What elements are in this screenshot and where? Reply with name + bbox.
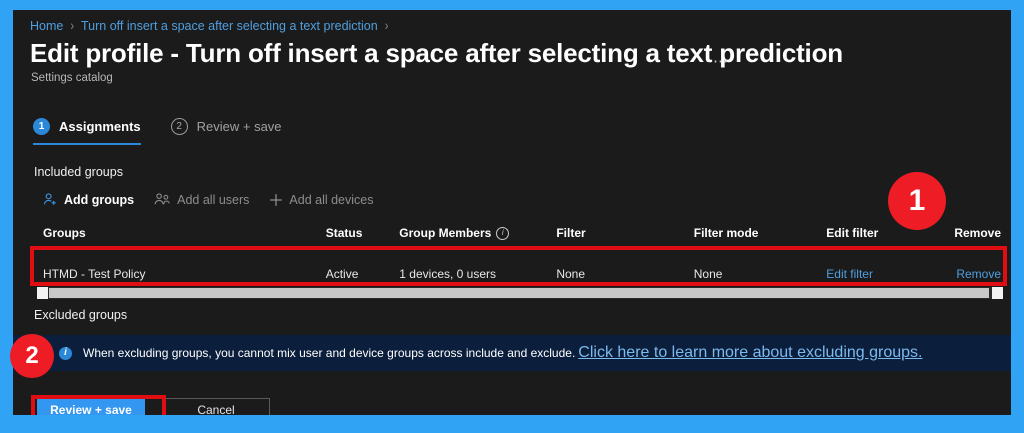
wizard-tabs: 1 Assignments 2 Review + save bbox=[33, 118, 282, 145]
column-header-filter[interactable]: Filter bbox=[556, 226, 693, 240]
table-horizontal-scrollbar[interactable] bbox=[37, 287, 1003, 299]
add-all-users-button[interactable]: Add all users bbox=[154, 192, 249, 207]
scroll-left-arrow-icon[interactable] bbox=[37, 287, 48, 299]
column-header-remove[interactable]: Remove bbox=[942, 226, 1001, 240]
table-header-row: Groups Status Group Members i Filter Fil… bbox=[43, 222, 1001, 244]
scrollbar-thumb[interactable] bbox=[49, 288, 989, 298]
tab-review-save-label: Review + save bbox=[197, 119, 282, 134]
info-message-bar: i When excluding groups, you cannot mix … bbox=[13, 335, 1011, 371]
add-all-devices-label: Add all devices bbox=[289, 193, 373, 207]
column-header-groups[interactable]: Groups bbox=[43, 226, 326, 240]
breadcrumb-item-home[interactable]: Home bbox=[30, 18, 63, 34]
add-all-devices-button[interactable]: Add all devices bbox=[269, 193, 373, 207]
page-subtitle: Settings catalog bbox=[31, 72, 113, 84]
remove-link[interactable]: Remove bbox=[942, 267, 1001, 281]
edit-filter-link[interactable]: Edit filter bbox=[826, 267, 942, 281]
column-header-group-members[interactable]: Group Members i bbox=[399, 226, 556, 240]
tab-assignments[interactable]: 1 Assignments bbox=[33, 118, 141, 145]
breadcrumb-item-policy[interactable]: Turn off insert a space after selecting … bbox=[81, 18, 378, 34]
info-message-text: When excluding groups, you cannot mix us… bbox=[83, 346, 575, 360]
cell-group-members: 1 devices, 0 users bbox=[399, 267, 556, 281]
column-header-filter-mode[interactable]: Filter mode bbox=[694, 226, 827, 240]
add-groups-button[interactable]: Add groups bbox=[43, 192, 134, 207]
tab-review-save-number: 2 bbox=[171, 118, 188, 135]
column-header-status[interactable]: Status bbox=[326, 226, 400, 240]
scroll-right-arrow-icon[interactable] bbox=[992, 287, 1003, 299]
azure-portal-blade: Home › Turn off insert a space after sel… bbox=[13, 10, 1011, 415]
tab-assignments-number: 1 bbox=[33, 118, 50, 135]
annotation-badge-1: 1 bbox=[888, 172, 946, 230]
review-save-button[interactable]: Review + save bbox=[37, 398, 145, 415]
tab-assignments-label: Assignments bbox=[59, 119, 141, 134]
tab-review-save[interactable]: 2 Review + save bbox=[171, 118, 282, 145]
chevron-right-icon: › bbox=[70, 16, 74, 36]
cell-filter: None bbox=[556, 267, 693, 281]
assignments-command-bar: Add groups Add all users bbox=[43, 192, 373, 207]
add-user-icon bbox=[43, 192, 58, 207]
cell-status: Active bbox=[326, 267, 400, 281]
learn-more-link[interactable]: Click here to learn more about excluding… bbox=[578, 344, 922, 362]
info-icon: i bbox=[59, 347, 72, 360]
excluded-groups-heading: Excluded groups bbox=[34, 308, 127, 322]
more-options-icon[interactable]: ⋯ bbox=[713, 52, 730, 70]
add-all-users-label: Add all users bbox=[177, 193, 249, 207]
chevron-right-icon: › bbox=[385, 16, 389, 36]
breadcrumb: Home › Turn off insert a space after sel… bbox=[30, 18, 388, 34]
included-groups-heading: Included groups bbox=[34, 165, 123, 179]
included-groups-table: Groups Status Group Members i Filter Fil… bbox=[43, 222, 1001, 290]
info-icon[interactable]: i bbox=[496, 227, 509, 240]
add-groups-label: Add groups bbox=[64, 193, 134, 207]
cell-filter-mode: None bbox=[694, 267, 827, 281]
column-header-group-members-label: Group Members bbox=[399, 226, 491, 240]
plus-icon bbox=[269, 193, 283, 207]
table-row[interactable]: HTMD - Test Policy Active 1 devices, 0 u… bbox=[43, 258, 1001, 290]
annotation-badge-2: 2 bbox=[10, 334, 54, 378]
all-users-icon bbox=[154, 192, 171, 207]
blade-footer: Review + save Cancel bbox=[37, 398, 270, 415]
screenshot-frame: Home › Turn off insert a space after sel… bbox=[0, 0, 1024, 433]
cell-group-name: HTMD - Test Policy bbox=[43, 267, 326, 281]
cancel-button[interactable]: Cancel bbox=[162, 398, 270, 415]
